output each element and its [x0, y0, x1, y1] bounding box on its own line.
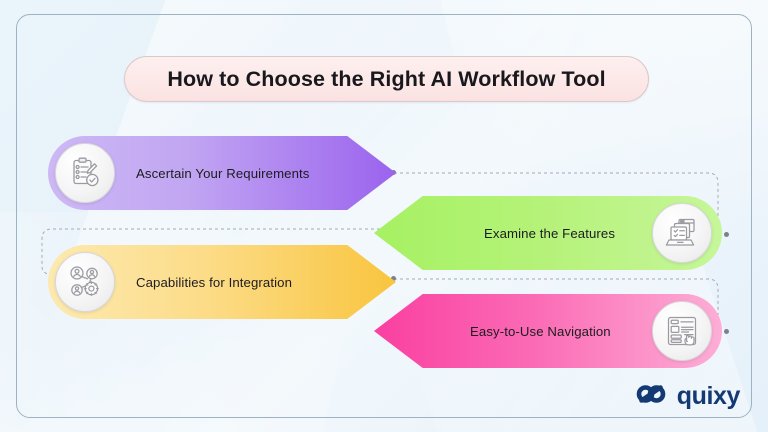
step-band-4[interactable]: Easy-to-Use Navigation: [374, 294, 722, 368]
brand-logo: quixy: [633, 381, 740, 412]
connector-dot: [724, 329, 729, 334]
infinity-knot-icon: [633, 381, 669, 412]
clipboard-checklist-icon: [55, 143, 115, 203]
connector-dot: [724, 232, 729, 237]
step-band-2[interactable]: Examine the Features: [374, 196, 722, 270]
step-band-3[interactable]: Capabilities for Integration: [48, 245, 396, 319]
webpage-cursor-icon: [652, 301, 712, 361]
laptop-checklist-icon: [652, 203, 712, 263]
step-band-2-label: Examine the Features: [484, 226, 615, 241]
step-band-1-label: Ascertain Your Requirements: [136, 166, 310, 181]
step-band-3-label: Capabilities for Integration: [136, 275, 292, 290]
users-gear-network-icon: [55, 252, 115, 312]
page-title: How to Choose the Right AI Workflow Tool: [124, 56, 649, 102]
step-band-1[interactable]: Ascertain Your Requirements: [48, 136, 396, 210]
brand-name: quixy: [677, 382, 740, 411]
page-title-text: How to Choose the Right AI Workflow Tool: [167, 67, 605, 92]
step-band-4-label: Easy-to-Use Navigation: [470, 324, 611, 339]
